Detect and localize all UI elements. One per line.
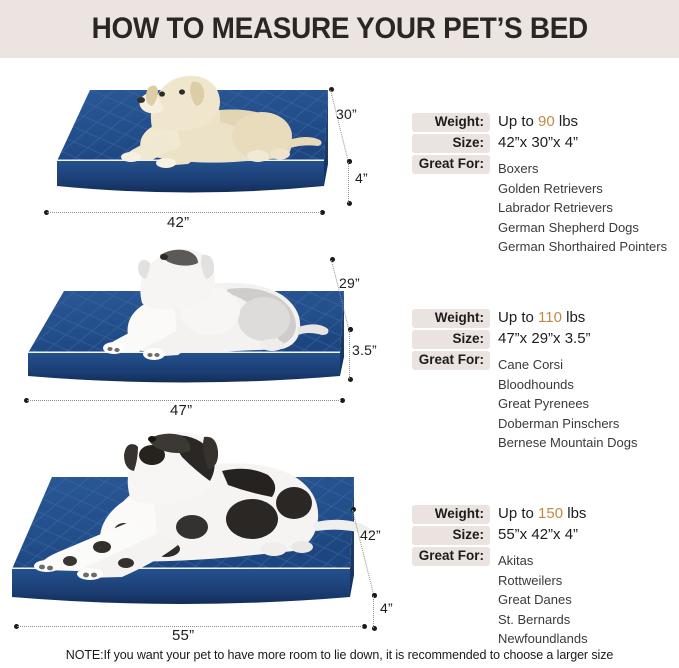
bed-svg-large: [6, 431, 396, 631]
bed-illustration-large: [6, 431, 396, 631]
breed-list-large: Akitas Rottweilers Great Danes St. Berna…: [498, 551, 679, 649]
mattress-base: [28, 353, 340, 383]
size-value: 42”x 30”x 4”: [498, 134, 578, 151]
weight-number: 90: [538, 113, 555, 130]
list-item: Rottweilers: [498, 571, 679, 591]
weight-suffix: lbs: [555, 113, 578, 130]
weight-label: Weight:: [412, 113, 490, 132]
weight-suffix: lbs: [563, 505, 586, 522]
weight-label: Weight:: [412, 309, 490, 328]
weight-suffix: lbs: [562, 309, 585, 326]
bed-illustration-small: [24, 68, 354, 213]
bed-row-small: 30” 4” 42” Weight: Up to 90 lbs Size: 42…: [0, 58, 679, 231]
dim-line: [47, 212, 321, 213]
list-item: Great Danes: [498, 590, 679, 610]
mattress-base: [57, 161, 324, 193]
page-header: HOW TO MEASURE YOUR PET’S BED: [0, 0, 679, 58]
mattress-base: [12, 569, 350, 604]
weight-number: 150: [538, 505, 563, 522]
weight-label: Weight:: [412, 505, 490, 524]
list-item: Akitas: [498, 551, 679, 571]
bed-row-large: 42” 4” 55” Weight: Up to 150 lbs Size: 5…: [0, 421, 679, 643]
weight-value: Up to 110 lbs: [498, 309, 585, 326]
list-item: Golden Retrievers: [498, 179, 679, 199]
weight-prefix: Up to: [498, 113, 538, 130]
bed-svg-small: [24, 68, 354, 213]
bed-row-medium: 29” 3.5” 47” Weight: Up to 110 lbs Size:…: [0, 231, 679, 421]
weight-value: Up to 150 lbs: [498, 505, 586, 522]
dim-line: [348, 162, 349, 203]
bed-illustration-medium: [14, 245, 374, 405]
size-label: Size:: [412, 526, 490, 545]
weight-value: Up to 90 lbs: [498, 113, 578, 130]
greatfor-label: Great For:: [412, 547, 490, 566]
bed-svg-medium: [14, 245, 374, 405]
size-row: Size: 42”x 30”x 4”: [412, 134, 679, 153]
size-value: 55”x 42”x 4”: [498, 526, 578, 543]
greatfor-label: Great For:: [412, 351, 490, 370]
weight-row: Weight: Up to 150 lbs: [412, 505, 679, 524]
size-row: Size: 55”x 42”x 4”: [412, 526, 679, 545]
weight-prefix: Up to: [498, 309, 538, 326]
weight-prefix: Up to: [498, 505, 538, 522]
page-title: HOW TO MEASURE YOUR PET’S BED: [91, 12, 587, 46]
list-item: St. Bernards: [498, 610, 679, 630]
list-item: Newfoundlands: [498, 629, 679, 649]
footer-note: NOTE:If you want your pet to have more r…: [0, 648, 679, 662]
dim-line: [27, 400, 341, 401]
weight-number: 110: [538, 309, 562, 326]
size-row: Size: 47”x 29”x 3.5”: [412, 330, 679, 349]
dim-line: [349, 330, 350, 379]
weight-row: Weight: Up to 110 lbs: [412, 309, 679, 328]
list-item: Bloodhounds: [498, 375, 679, 395]
info-panel-large: Weight: Up to 150 lbs Size: 55”x 42”x 4”…: [412, 505, 679, 649]
list-item: Boxers: [498, 159, 679, 179]
dim-line: [373, 596, 374, 628]
size-label: Size:: [412, 330, 490, 349]
list-item: Great Pyrenees: [498, 394, 679, 414]
size-value: 47”x 29”x 3.5”: [498, 330, 591, 347]
weight-row: Weight: Up to 90 lbs: [412, 113, 679, 132]
list-item: Labrador Retrievers: [498, 198, 679, 218]
list-item: Cane Corsi: [498, 355, 679, 375]
size-label: Size:: [412, 134, 490, 153]
greatfor-label: Great For:: [412, 155, 490, 174]
infographic-page: HOW TO MEASURE YOUR PET’S BED: [0, 0, 679, 668]
